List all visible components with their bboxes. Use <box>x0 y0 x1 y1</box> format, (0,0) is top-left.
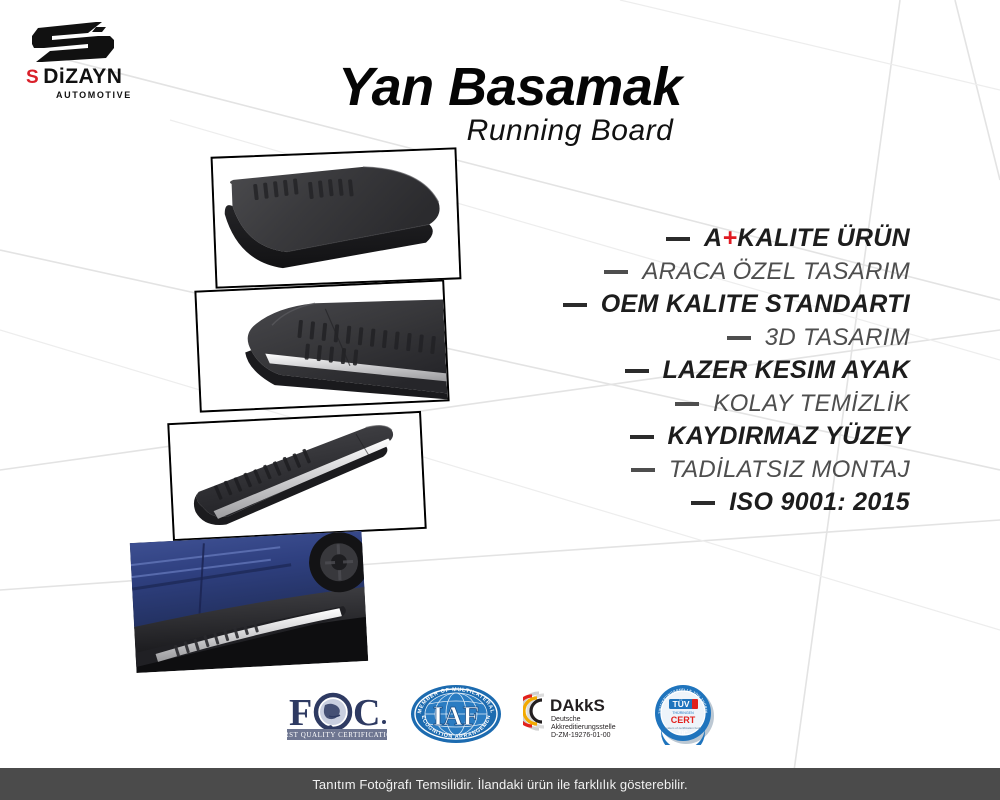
product-photo-tread-closeup <box>194 279 449 412</box>
dakks-acronym: DAkkS <box>550 696 605 715</box>
feature-item: ARACA ÖZEL TASARIM <box>470 255 910 288</box>
logo-tagline: AUTOMOTIVE <box>24 90 174 100</box>
bullet-dash-icon <box>625 369 649 373</box>
feature-label: OEM KALITE STANDARTI <box>601 290 910 319</box>
dakks-line3: D-ZM-19276-01-00 <box>551 732 611 739</box>
tuv-bottom-label: TIC <box>678 731 688 737</box>
feature-item: LAZER KESIM AYAK <box>470 354 910 387</box>
bullet-dash-icon <box>631 468 655 472</box>
svg-text:F: F <box>289 692 312 734</box>
fqc-certification-badge-icon: F C FIRST QUALITY CERTIFICATION <box>285 685 389 743</box>
feature-accent-plus: + <box>722 224 737 252</box>
svg-text:C: C <box>353 692 380 734</box>
feature-item: KAYDIRMAZ YÜZEY <box>470 420 910 453</box>
fqc-banner-text: FIRST QUALITY CERTIFICATION <box>285 731 389 739</box>
feature-label: KAYDIRMAZ YÜZEY <box>668 422 910 451</box>
page-subtitle: Running Board <box>360 114 780 148</box>
tuv-cert-certification-badge-icon: ZERTIFIZIERUNGSSTELLE TÜV THÜRINGEN TÜV … <box>653 683 715 745</box>
feature-label: TADİLATSIZ MONTAJ <box>669 456 910 484</box>
certification-badges: F C FIRST QUALITY CERTIFICATION <box>285 680 715 748</box>
feature-text-suffix: KALITE ÜRÜN <box>737 224 910 252</box>
feature-list: A+KALITE ÜRÜN ARACA ÖZEL TASARIM OEM KAL… <box>470 222 910 519</box>
feature-item: TADİLATSIZ MONTAJ <box>470 453 910 486</box>
logo-brand-name: DiZAYN <box>43 66 122 87</box>
feature-item: OEM KALITE STANDARTI <box>470 288 910 321</box>
feature-label: LAZER KESIM AYAK <box>663 356 910 385</box>
footer-disclaimer-text: Tanıtım Fotoğrafı Temsilidir. İlandaki ü… <box>312 777 687 792</box>
tuv-acronym: TÜV <box>673 699 690 709</box>
bullet-dash-icon <box>727 336 751 340</box>
bullet-dash-icon <box>666 237 690 241</box>
feature-label: ISO 9001: 2015 <box>729 488 910 517</box>
bullet-dash-icon <box>604 270 628 274</box>
feature-text-prefix: A <box>704 224 722 252</box>
feature-item: A+KALITE ÜRÜN <box>470 222 910 255</box>
bullet-dash-icon <box>563 303 587 307</box>
feature-item: KOLAY TEMİZLİK <box>470 387 910 420</box>
footer-disclaimer-bar: Tanıtım Fotoğrafı Temsilidir. İlandaki ü… <box>0 768 1000 800</box>
feature-item: ISO 9001: 2015 <box>470 486 910 519</box>
feature-label: KOLAY TEMİZLİK <box>713 390 910 418</box>
page-title: Yan Basamak <box>300 56 720 118</box>
bullet-dash-icon <box>630 435 654 439</box>
product-photo-installed-vehicle <box>130 531 368 673</box>
product-advertisement-card: S DiZAYN AUTOMOTIVE Yan Basamak Running … <box>0 0 1000 800</box>
feature-label: ARACA ÖZEL TASARIM <box>642 258 910 286</box>
dakks-certification-badge-icon: DAkkS Deutsche Akkreditierungsstelle D-Z… <box>523 687 633 741</box>
tuv-cert-label: CERT <box>671 715 696 725</box>
tuv-sub-label: system of certification body <box>665 726 702 730</box>
dakks-line2: Akkreditierungsstelle <box>551 724 616 731</box>
iaf-acronym: IAF <box>433 701 480 731</box>
s-dizayn-logo-mark-icon <box>30 18 122 64</box>
feature-item: 3D TASARIM <box>470 321 910 354</box>
product-photo-full-board <box>167 411 426 541</box>
bullet-dash-icon <box>675 402 699 406</box>
feature-label: 3D TASARIM <box>765 324 910 352</box>
dakks-line1: Deutsche <box>551 716 581 723</box>
iaf-certification-badge-icon: IAF MEMBER OF MULTILATERAL RECOGNITION A… <box>409 683 503 745</box>
bullet-dash-icon <box>691 501 715 505</box>
product-photo-angled-board <box>211 147 462 288</box>
logo-s-letter: S <box>26 68 38 87</box>
brand-logo: S DiZAYN AUTOMOTIVE <box>24 18 174 100</box>
